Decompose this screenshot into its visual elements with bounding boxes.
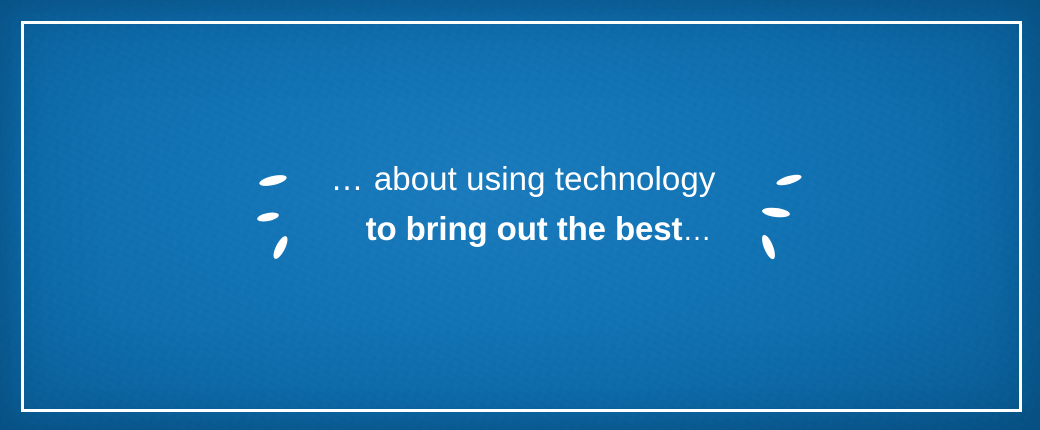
tagline-line-2-text: to bring out the best	[366, 210, 683, 247]
tagline-line-1-text: about using technology	[365, 160, 716, 197]
tagline-trailing-ellipsis: …	[682, 215, 712, 247]
tagline-line-2: to bring out the best…	[0, 212, 1040, 246]
promo-banner: … about using technology to bring out th…	[0, 0, 1040, 430]
tagline: … about using technology to bring out th…	[0, 162, 1040, 246]
tagline-leading-ellipsis: …	[331, 160, 365, 197]
tagline-line-1: … about using technology	[0, 162, 1040, 195]
